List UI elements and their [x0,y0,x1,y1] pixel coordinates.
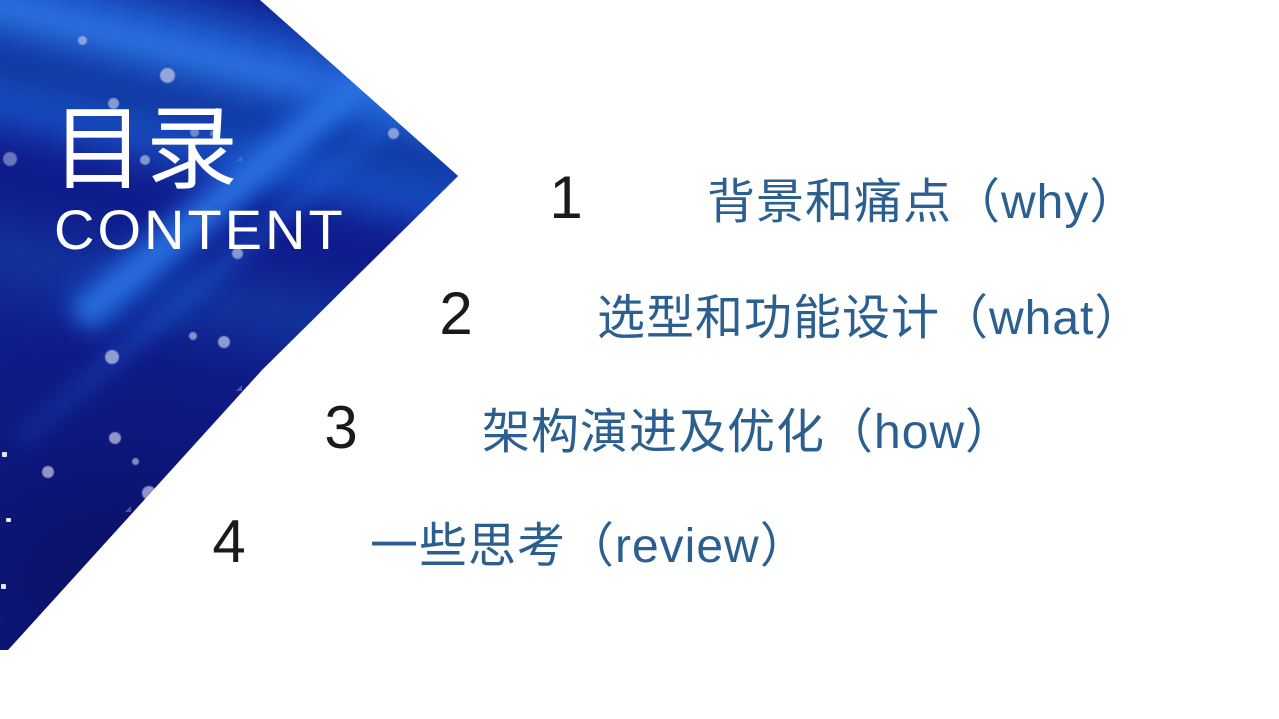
page-title: 目录 [52,104,346,196]
agenda-item-4[interactable]: 4 一些思考（review） [200,512,809,572]
agenda-label: 架构演进及优化（how） [482,409,1014,457]
agenda-item-1[interactable]: 1 背景和痛点（why） [537,168,1138,228]
agenda-label: 选型和功能设计（what） [597,295,1143,343]
agenda-number: 1 [537,168,595,228]
agenda-item-3[interactable]: 3 架构演进及优化（how） [312,398,1014,458]
agenda-label: 背景和痛点（why） [707,179,1138,227]
presentation-slide: 目录 CONTENT 1 背景和痛点（why） 2 选型和功能设计（what） … [0,0,1279,719]
agenda-item-2[interactable]: 2 选型和功能设计（what） [427,284,1143,344]
agenda-number: 3 [312,398,370,458]
page-subtitle: CONTENT [54,202,346,258]
agenda-number: 2 [427,284,485,344]
agenda-label: 一些思考（review） [370,523,809,571]
agenda-number: 4 [200,512,258,572]
banner-heading-group: 目录 CONTENT [52,104,346,258]
